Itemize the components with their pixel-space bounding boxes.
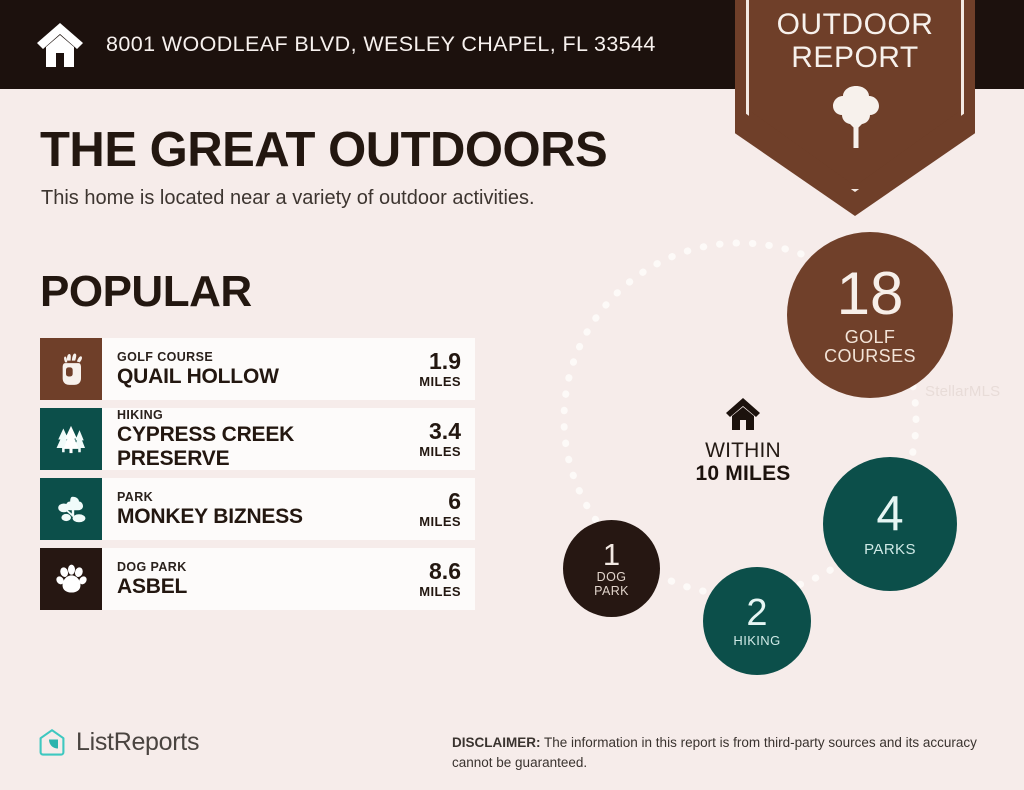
row-distance-value: 6 [448, 489, 461, 514]
row-distance-unit: MILES [419, 444, 461, 459]
row-distance-unit: MILES [419, 514, 461, 529]
disclaimer: DISCLAIMER: The information in this repo… [452, 733, 992, 773]
park-tree-bench-icon [55, 495, 87, 524]
stat-label-line-1: DOG [594, 571, 629, 584]
list-item[interactable]: GOLF COURSE QUAIL HOLLOW 1.9 MILES [40, 338, 475, 400]
row-distance: 6 MILES [369, 478, 475, 540]
row-icon-tile [40, 408, 102, 470]
paw-print-icon [56, 564, 87, 595]
stat-label: GOLF COURSES [824, 328, 916, 366]
stat-count: 4 [876, 490, 903, 539]
row-icon-tile [40, 338, 102, 400]
row-distance: 1.9 MILES [369, 338, 475, 400]
stat-circle-parks[interactable]: 4 PARKS [823, 457, 957, 591]
stat-count: 1 [603, 539, 620, 570]
row-category: PARK [117, 490, 369, 505]
diagram-center-block: WITHIN 10 MILES [663, 397, 823, 486]
row-distance-value: 1.9 [429, 349, 461, 374]
golf-bag-icon [56, 352, 86, 386]
stat-label-line-2: COURSES [824, 347, 916, 366]
center-line-1: WITHIN [663, 439, 823, 462]
listreports-logo[interactable]: ListReports [38, 728, 199, 757]
page-subtitle: This home is located near a variety of o… [41, 187, 535, 210]
row-text: HIKING CYPRESS CREEK PRESERVE [102, 408, 369, 470]
row-text: GOLF COURSE QUAIL HOLLOW [102, 338, 369, 400]
popular-section-title: POPULAR [40, 267, 252, 317]
row-icon-tile [40, 548, 102, 610]
within-10-miles-diagram: 18 GOLF COURSES 4 PARKS 2 HIKING 1 DOG P… [515, 215, 985, 685]
row-name: CYPRESS CREEK PRESERVE [117, 423, 369, 471]
row-text: DOG PARK ASBEL [102, 548, 369, 610]
badge-text: OUTDOOR REPORT [735, 8, 975, 74]
page-title: THE GREAT OUTDOORS [40, 122, 607, 178]
row-category: GOLF COURSE [117, 350, 369, 365]
badge-line-2: REPORT [735, 41, 975, 74]
listreports-logo-text: ListReports [76, 728, 199, 757]
list-item[interactable]: HIKING CYPRESS CREEK PRESERVE 3.4 MILES [40, 408, 475, 470]
list-item[interactable]: PARK MONKEY BIZNESS 6 MILES [40, 478, 475, 540]
home-icon [36, 22, 84, 68]
stat-circle-hiking[interactable]: 2 HIKING [703, 567, 811, 675]
stat-circle-golf-courses[interactable]: 18 GOLF COURSES [787, 232, 953, 398]
row-name: QUAIL HOLLOW [117, 365, 369, 389]
center-line-2: 10 MILES [663, 462, 823, 486]
stat-label: DOG PARK [594, 571, 629, 597]
row-name: MONKEY BIZNESS [117, 505, 369, 529]
tree-icon [830, 84, 882, 148]
outdoor-report-badge: OUTDOOR REPORT [735, 0, 975, 216]
badge-line-1: OUTDOOR [735, 8, 975, 41]
stat-circle-dog-park[interactable]: 1 DOG PARK [563, 520, 660, 617]
disclaimer-label: DISCLAIMER: [452, 735, 541, 750]
header-address: 8001 WOODLEAF BLVD, WESLEY CHAPEL, FL 33… [106, 32, 656, 57]
row-category: DOG PARK [117, 560, 369, 575]
stat-label: PARKS [864, 542, 916, 558]
stellarmls-watermark: StellarMLS [925, 383, 1000, 400]
row-distance-unit: MILES [419, 584, 461, 599]
stat-label-line-2: PARK [594, 585, 629, 598]
list-item[interactable]: DOG PARK ASBEL 8.6 MILES [40, 548, 475, 610]
stat-count: 18 [837, 264, 904, 324]
pine-trees-icon [54, 425, 88, 454]
row-name: ASBEL [117, 575, 369, 599]
row-text: PARK MONKEY BIZNESS [102, 478, 369, 540]
row-icon-tile [40, 478, 102, 540]
row-distance: 3.4 MILES [369, 408, 475, 470]
row-category: HIKING [117, 408, 369, 423]
row-distance-value: 8.6 [429, 559, 461, 584]
row-distance: 8.6 MILES [369, 548, 475, 610]
listreports-house-icon [38, 728, 66, 757]
outdoor-report-page: 8001 WOODLEAF BLVD, WESLEY CHAPEL, FL 33… [0, 0, 1024, 790]
stat-label: HIKING [733, 634, 780, 648]
popular-list: GOLF COURSE QUAIL HOLLOW 1.9 MILES [40, 338, 475, 618]
row-distance-value: 3.4 [429, 419, 461, 444]
stat-label-line-1: GOLF [824, 328, 916, 347]
stat-count: 2 [746, 594, 767, 632]
row-distance-unit: MILES [419, 374, 461, 389]
home-icon [725, 397, 761, 431]
